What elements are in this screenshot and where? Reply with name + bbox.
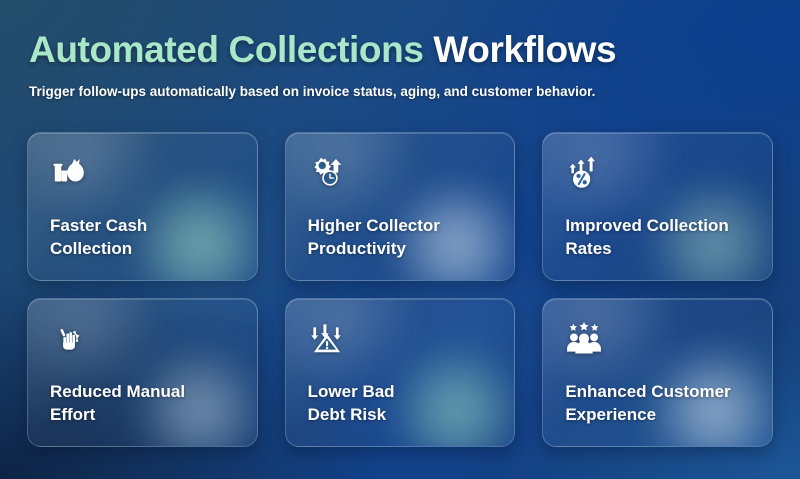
card-title: Reduced Manual Effort — [50, 380, 235, 426]
card-title: Improved Collection Rates — [565, 214, 750, 260]
card-title-line2: Debt Risk — [308, 405, 386, 424]
card-title-line1: Enhanced Customer — [565, 382, 730, 401]
card-title-line2: Effort — [50, 405, 95, 424]
slide-canvas: Automated Collections Workflows Trigger … — [0, 0, 800, 479]
card-title: Higher Collector Productivity — [308, 214, 493, 260]
page-title-plain: Workflows — [433, 29, 616, 70]
benefit-card-faster-cash-collection[interactable]: Faster Cash Collection — [27, 132, 258, 281]
card-title-line2: Experience — [565, 405, 656, 424]
card-title-line2: Rates — [565, 239, 611, 258]
benefit-card-improved-collection-rates[interactable]: Improved Collection Rates — [542, 132, 773, 281]
card-title-line1: Faster Cash — [50, 216, 147, 235]
page-subtitle: Trigger follow-ups automatically based o… — [29, 83, 769, 101]
percent-up-arrows-icon — [565, 153, 603, 191]
benefit-card-higher-collector-productivity[interactable]: Higher Collector Productivity — [285, 132, 516, 281]
card-title: Faster Cash Collection — [50, 214, 235, 260]
card-title-line1: Reduced Manual — [50, 382, 185, 401]
benefit-card-enhanced-customer-experience[interactable]: Enhanced Customer Experience — [542, 298, 773, 447]
money-bag-icon — [50, 153, 88, 191]
hand-gear-icon — [50, 319, 88, 357]
people-stars-icon — [565, 319, 603, 357]
card-title-line1: Higher Collector — [308, 216, 440, 235]
card-title: Lower Bad Debt Risk — [308, 380, 493, 426]
card-title-line2: Productivity — [308, 239, 406, 258]
benefit-card-grid: Faster Cash Collection — [27, 132, 773, 447]
page-title: Automated Collections Workflows — [29, 28, 769, 72]
header-block: Automated Collections Workflows Trigger … — [29, 28, 769, 101]
card-title: Enhanced Customer Experience — [565, 380, 750, 426]
benefit-card-reduced-manual-effort[interactable]: Reduced Manual Effort — [27, 298, 258, 447]
page-title-accent: Automated Collections — [29, 29, 424, 70]
card-title-line2: Collection — [50, 239, 132, 258]
card-title-line1: Lower Bad — [308, 382, 395, 401]
gear-clock-arrow-icon — [308, 153, 346, 191]
warning-down-arrows-icon — [308, 319, 346, 357]
card-title-line1: Improved Collection — [565, 216, 728, 235]
benefit-card-lower-bad-debt-risk[interactable]: Lower Bad Debt Risk — [285, 298, 516, 447]
